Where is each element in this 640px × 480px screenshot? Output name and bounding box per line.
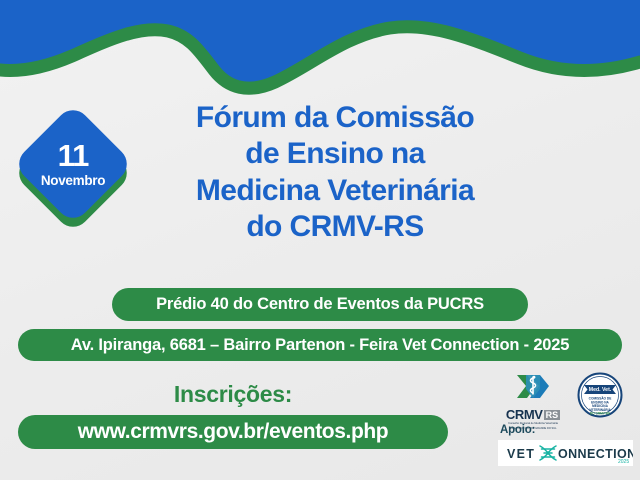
svg-text:DO CRMV-RS: DO CRMV-RS [590, 411, 610, 415]
crmv-state-badge: RS [544, 410, 561, 420]
date-badge-day: 11 [58, 140, 89, 171]
crmv-wordmark: CRMVRS [499, 408, 567, 421]
wave-green-stroke [0, 27, 640, 89]
wave-blue-shape [0, 0, 640, 88]
svg-text:Med. Vet.: Med. Vet. [589, 387, 612, 393]
logo-row-primary: CRMVRS Conselho Regional de Medicina Vet… [486, 372, 636, 422]
date-badge: 11 Novembro [12, 108, 134, 226]
vet-connection-logo: VET ONNECTION 2025 [498, 440, 633, 466]
registration-url-pill[interactable]: www.crmvrs.gov.br/eventos.php [18, 415, 448, 449]
title-line-3: Medicina Veterinária [120, 173, 550, 209]
registration-label: Inscrições: [18, 381, 448, 408]
event-poster: 11 Novembro Fórum da Comissão de Ensino … [0, 0, 640, 480]
crmv-rs-logo: CRMVRS Conselho Regional de Medicina Vet… [499, 372, 567, 431]
address-pill: Av. Ipiranga, 6681 – Bairro Partenon - F… [18, 329, 622, 361]
svg-text:2025: 2025 [618, 459, 629, 465]
svg-text:VET: VET [507, 447, 535, 461]
crmv-word-text: CRMV [506, 407, 543, 422]
date-badge-text: 11 Novembro [12, 121, 134, 207]
logo-block: CRMVRS Conselho Regional de Medicina Vet… [486, 372, 636, 476]
caduceus-shield-icon [499, 372, 567, 407]
title-line-4: do CRMV-RS [120, 209, 550, 245]
title-line-2: de Ensino na [120, 136, 550, 172]
page-title: Fórum da Comissão de Ensino na Medicina … [120, 100, 550, 245]
venue-pill: Prédio 40 do Centro de Eventos da PUCRS [112, 288, 528, 321]
title-line-1: Fórum da Comissão [120, 100, 550, 136]
date-badge-month: Novembro [41, 174, 105, 188]
circular-seal-icon: Med. Vet. COMISSÃO DE ENSINO NA MEDICINA… [577, 372, 623, 418]
support-label: Apoio: [500, 424, 535, 436]
